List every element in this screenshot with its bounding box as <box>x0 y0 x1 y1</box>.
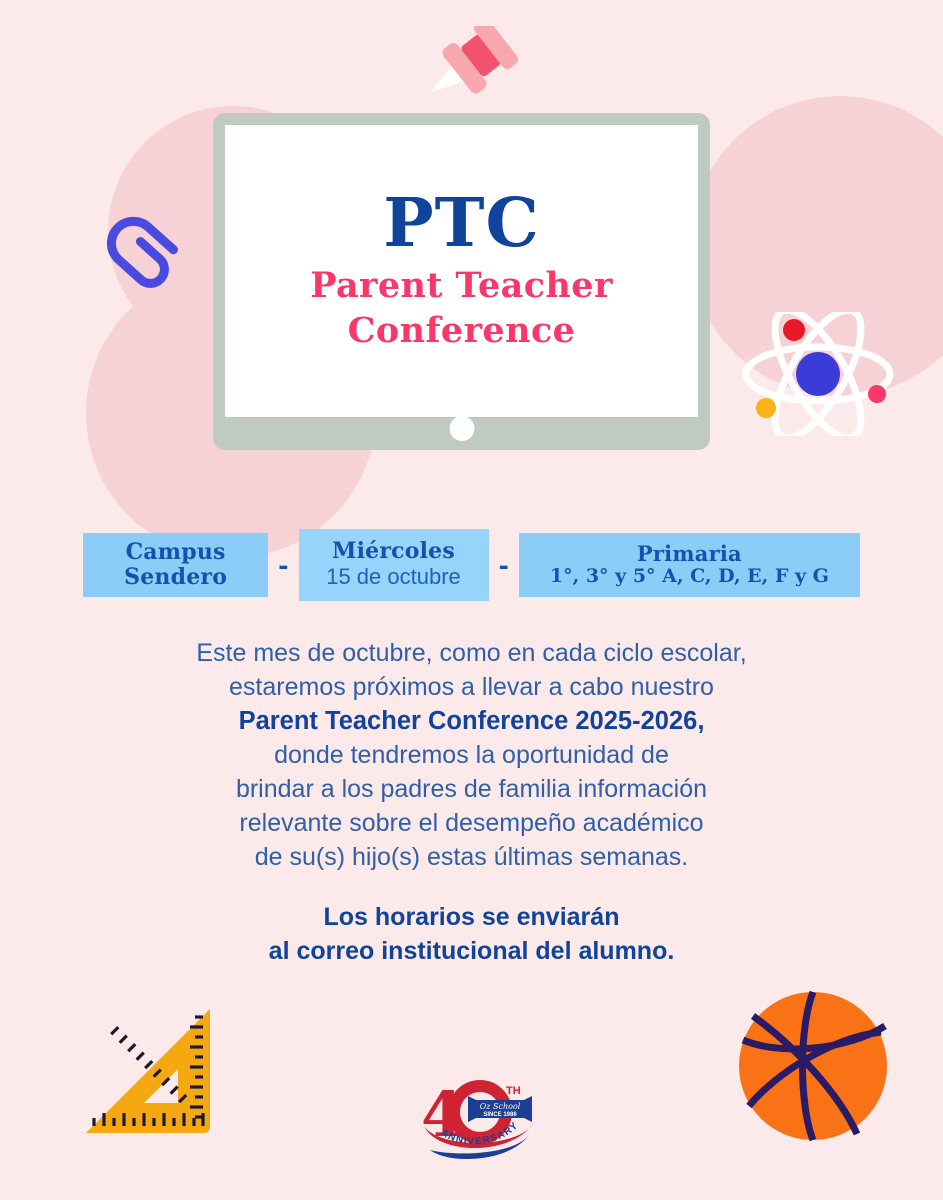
badge-separator-2: - <box>489 551 519 580</box>
poster-canvas: PTC Parent Teacher Conference Campus Sen… <box>0 0 943 1200</box>
ptc-subtitle: Parent Teacher Conference <box>310 264 613 354</box>
tablet-device: PTC Parent Teacher Conference <box>213 113 710 450</box>
body-line-3-strong: Parent Teacher Conference 2025-2026 <box>239 707 698 735</box>
badge-grade[interactable]: Primaria 1°, 3° y 5° A, C, D, E, F y G <box>519 533 860 597</box>
badge-campus-line1: Campus <box>126 540 226 565</box>
closing-line-1: Los horarios se enviarán <box>324 903 620 931</box>
body-line-7: de su(s) hijo(s) estas últimas semanas. <box>255 843 688 871</box>
badge-grade-line1: Primaria <box>637 542 742 566</box>
badge-grade-line2: 1°, 3° y 5° A, C, D, E, F y G <box>550 566 829 588</box>
body-line-6: relevante sobre el desempeño académico <box>239 809 703 837</box>
badge-date-line2: 15 de octubre <box>326 564 461 590</box>
badge-campus-line2: Sendero <box>124 565 227 590</box>
body-line-3-tail: , <box>697 707 704 735</box>
body-line-1: Este mes de octubre, como en cada ciclo … <box>196 639 746 667</box>
anniversary-banner-line2: SINCE 1986 <box>483 1112 517 1118</box>
ptc-title: PTC <box>383 189 540 256</box>
pushpin-icon <box>418 26 522 102</box>
atom-icon <box>740 312 896 436</box>
badge-separator-1: - <box>268 551 298 580</box>
closing-paragraph: Los horarios se enviarán al correo insti… <box>0 900 943 968</box>
anniversary-banner-line1: Oz School <box>480 1102 521 1111</box>
tablet-home-button <box>449 416 474 441</box>
info-badge-row: Campus Sendero - Miércoles 15 de octubre… <box>0 529 943 601</box>
anniversary-ordinal: TH <box>506 1085 521 1097</box>
badge-campus[interactable]: Campus Sendero <box>83 533 268 597</box>
paperclip-icon <box>88 208 192 312</box>
body-paragraph: Este mes de octubre, como en cada ciclo … <box>0 636 943 874</box>
badge-date-line1: Miércoles <box>332 539 455 564</box>
body-line-5: brindar a los padres de familia informac… <box>236 775 707 803</box>
ptc-subtitle-line2: Conference <box>348 310 576 351</box>
anniversary-logo: 4 TH Oz School SINCE 1986 ANNIVERSARY <box>418 1064 538 1164</box>
ptc-subtitle-line1: Parent Teacher <box>310 265 613 306</box>
tablet-screen: PTC Parent Teacher Conference <box>225 125 698 417</box>
badge-date[interactable]: Miércoles 15 de octubre <box>299 529 489 601</box>
closing-line-2: al correo institucional del alumno. <box>269 937 675 965</box>
set-square-ruler-icon <box>72 995 224 1147</box>
body-line-2: estaremos próximos a llevar a cabo nuest… <box>229 673 714 701</box>
basketball-icon <box>735 988 891 1144</box>
body-line-4: donde tendremos la oportunidad de <box>274 741 669 769</box>
